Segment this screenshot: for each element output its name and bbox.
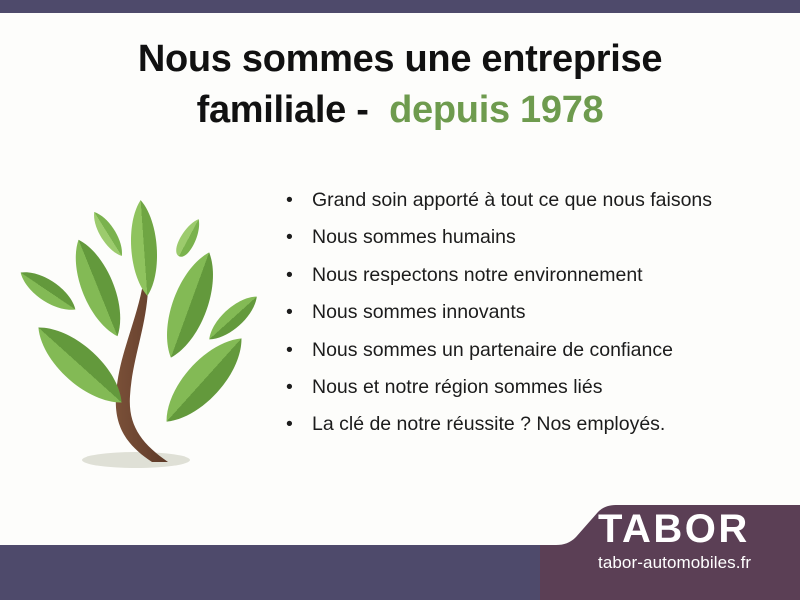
slide-canvas: Nous sommes une entreprise familiale - d…: [0, 0, 800, 600]
tree-trunk: [116, 289, 168, 462]
leaf-left-mid: [18, 264, 81, 318]
ground-shadow: [82, 452, 190, 468]
bullet-marker: •: [286, 188, 293, 212]
list-item-label: Nous sommes humains: [312, 226, 516, 248]
tree-icon: [18, 188, 273, 488]
leaf-upper-right: [155, 246, 226, 363]
list-item-label: Nous sommes un partenaire de confiance: [312, 339, 673, 361]
list-item-label: Nous respectons notre environnement: [312, 264, 643, 286]
title-line-1: Nous sommes une entreprise: [0, 34, 800, 85]
list-item-label: Grand soin apporté à tout ce que nous fa…: [312, 189, 712, 211]
title-line-2-accent: depuis 1978: [389, 89, 603, 131]
list-item: •Nous et notre région sommes liés: [283, 375, 783, 399]
bullet-marker: •: [286, 338, 293, 362]
bullet-marker: •: [286, 263, 293, 287]
leaf-upper-left: [64, 234, 132, 342]
top-accent-bar: [0, 0, 800, 13]
leaf-top-center: [128, 199, 160, 297]
title-line-2: familiale - depuis 1978: [0, 85, 800, 136]
brand-name: TABOR: [598, 508, 798, 550]
brand-logo: TABOR tabor-automobiles.fr: [598, 508, 798, 573]
list-item: •Grand soin apporté à tout ce que nous f…: [283, 188, 783, 212]
leaf-right-mid: [203, 289, 264, 346]
bullet-marker: •: [286, 300, 293, 324]
page-title: Nous sommes une entreprise familiale - d…: [0, 34, 800, 137]
title-line-2-black: familiale: [197, 89, 346, 131]
list-item-label: Nous sommes innovants: [312, 301, 526, 323]
bullet-marker: •: [286, 225, 293, 249]
list-item: •La clé de notre réussite ? Nos employés…: [283, 412, 783, 436]
list-item: •Nous sommes humains: [283, 225, 783, 249]
brand-url: tabor-automobiles.fr: [598, 553, 798, 573]
leaf-top-right-small: [172, 216, 205, 260]
bullet-marker: •: [286, 412, 293, 436]
list-item-label: Nous et notre région sommes liés: [312, 376, 602, 398]
list-item-label: La clé de notre réussite ? Nos employés.: [312, 413, 665, 435]
list-item: •Nous sommes innovants: [283, 300, 783, 324]
bullet-marker: •: [286, 375, 293, 399]
value-list: •Grand soin apporté à tout ce que nous f…: [283, 188, 783, 450]
title-dash: -: [356, 89, 368, 131]
list-item: •Nous respectons notre environnement: [283, 263, 783, 287]
list-item: •Nous sommes un partenaire de confiance: [283, 338, 783, 362]
tree-illustration: [18, 188, 273, 488]
